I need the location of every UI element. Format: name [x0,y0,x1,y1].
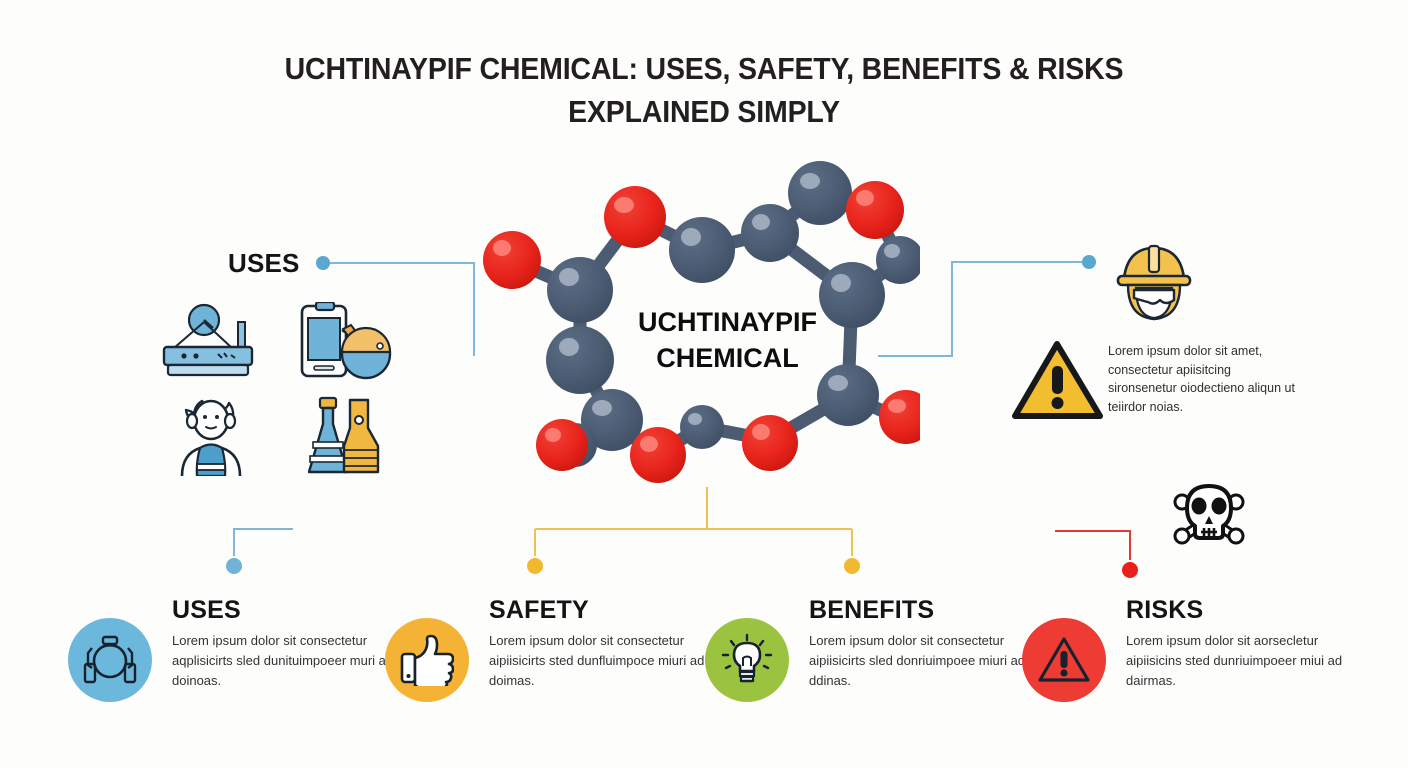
card-safety-body: SAFETY Lorem ipsum dolor sit consectetur… [489,596,714,690]
appliance-machine-icon [160,300,262,389]
lightbulb-icon [720,633,774,687]
molecule-diagram [470,155,920,515]
card-benefits-text: Lorem ipsum dolor sit consectetur aipiis… [809,631,1034,690]
wire-uses-bottom [226,529,293,574]
card-benefits-body: BENEFITS Lorem ipsum dolor sit consectet… [809,596,1034,690]
warning-triangle-icon [1010,338,1105,428]
hard-hat-safety-glasses-icon [1108,238,1200,331]
card-uses-icon-bubble [68,618,152,702]
chemical-drum-barrel-icon [82,634,138,686]
card-safety-icon-bubble [385,618,469,702]
safety-panel-text: Lorem ipsum dolor sit amet, consectetur … [1108,342,1303,416]
thumbs-up-icon [400,634,454,686]
infographic-canvas: UCHTINAYPIF CHEMICAL: USES, SAFETY, BENE… [0,0,1408,768]
card-uses-text: Lorem ipsum dolor sit consectetur aqplis… [172,631,397,690]
uses-top-label: USES [228,248,300,279]
card-risks-body: RISKS Lorem ipsum dolor sit aorsecletur … [1126,596,1351,690]
skull-crossbones-icon [1168,484,1250,561]
card-risks[interactable]: RISKS Lorem ipsum dolor sit aorsecletur … [1022,596,1352,726]
card-uses[interactable]: USES Lorem ipsum dolor sit consectetur a… [68,596,398,726]
uses-icon-grid [160,296,400,481]
lab-flasks-icon [300,394,386,481]
wire-risks [1055,531,1138,578]
card-risks-icon-bubble [1022,618,1106,702]
person-apron-icon [168,394,256,481]
card-risks-heading: RISKS [1126,596,1351,625]
card-uses-heading: USES [172,596,397,625]
warning-triangle-icon [1037,635,1091,685]
card-risks-text: Lorem ipsum dolor sit aorsecletur aipiis… [1126,631,1351,690]
card-safety-heading: SAFETY [489,596,714,625]
card-safety-text: Lorem ipsum dolor sit consectetur aipiis… [489,631,714,690]
card-safety[interactable]: SAFETY Lorem ipsum dolor sit consectetur… [385,596,715,726]
card-benefits-icon-bubble [705,618,789,702]
card-benefits[interactable]: BENEFITS Lorem ipsum dolor sit consectet… [705,596,1035,726]
smartphone-paint-palette-icon [296,302,394,389]
card-benefits-heading: BENEFITS [809,596,1034,625]
card-uses-body: USES Lorem ipsum dolor sit consectetur a… [172,596,397,690]
